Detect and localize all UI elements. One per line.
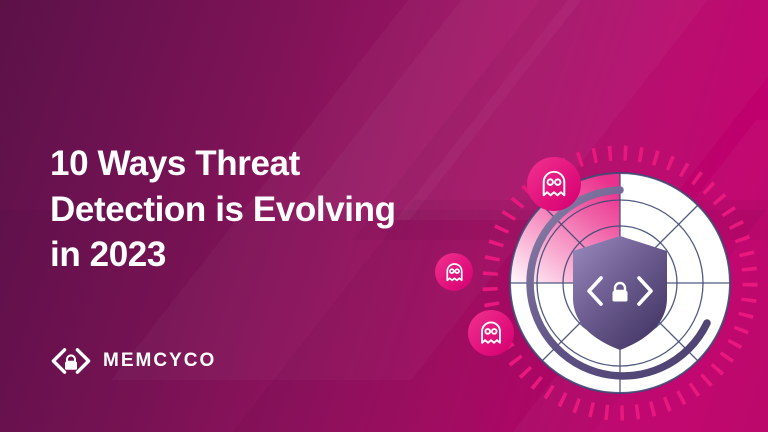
- memcyco-lock-brackets-icon: [50, 345, 92, 377]
- ghost-icon: [539, 169, 569, 199]
- radar-graphic: [455, 118, 768, 432]
- brand-name: MEMCYCO: [103, 350, 216, 372]
- threat-marker-ghost-3: [468, 310, 514, 356]
- blog-banner: 10 Ways Threat Detection is Evolving in …: [0, 0, 768, 432]
- threat-detection-radar: [455, 118, 768, 432]
- page-title: 10 Ways Threat Detection is Evolving in …: [50, 141, 490, 278]
- threat-marker-ghost-1: [527, 157, 581, 211]
- memcyco-logo[interactable]: MEMCYCO: [50, 345, 216, 377]
- ghost-icon: [478, 320, 504, 346]
